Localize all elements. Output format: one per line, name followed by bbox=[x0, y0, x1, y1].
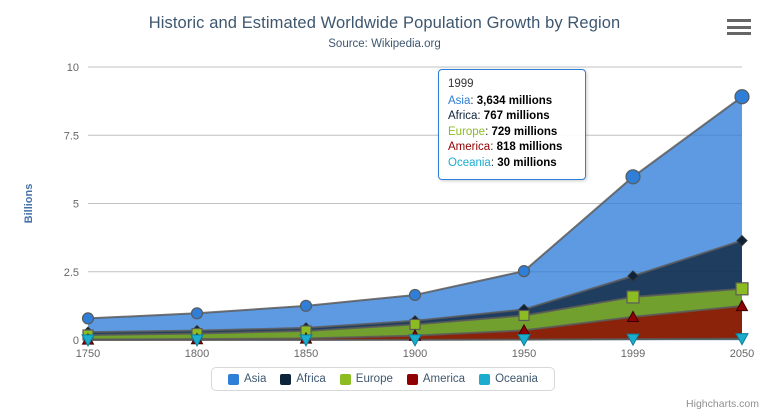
legend-swatch-icon bbox=[479, 374, 490, 385]
marker-asia[interactable] bbox=[519, 266, 530, 277]
x-tick-label: 2050 bbox=[730, 348, 754, 360]
legend-swatch-icon bbox=[340, 374, 351, 385]
tooltip-row-europe: Europe: 729 millions bbox=[448, 125, 576, 141]
marker-asia[interactable] bbox=[192, 308, 203, 319]
x-axis-tick-labels: 1750180018501900195019992050 bbox=[76, 348, 754, 360]
legend-item-label: Oceania bbox=[495, 373, 538, 385]
marker-europe[interactable] bbox=[410, 319, 420, 329]
legend-items: AsiaAfricaEuropeAmericaOceania bbox=[221, 373, 545, 385]
y-axis-title-text: Billions bbox=[23, 184, 35, 224]
highcharts-container: Historic and Estimated Worldwide Populat… bbox=[0, 0, 769, 416]
tooltip-series-value: 729 millions bbox=[491, 126, 557, 138]
y-tick-label: 7.5 bbox=[64, 130, 79, 142]
legend-swatch-icon bbox=[228, 374, 239, 385]
legend-item-africa[interactable]: Africa bbox=[280, 373, 325, 385]
y-axis-title: Billions bbox=[23, 184, 35, 224]
x-tick-label: 1900 bbox=[403, 348, 427, 360]
legend-item-america[interactable]: America bbox=[407, 373, 465, 385]
series-areas bbox=[88, 97, 742, 340]
legend-item-label: Asia bbox=[244, 373, 266, 385]
y-tick-label: 5 bbox=[73, 199, 79, 211]
tooltip-row-asia: Asia: 3,634 millions bbox=[448, 94, 576, 110]
y-tick-label: 10 bbox=[67, 62, 79, 74]
marker-asia[interactable] bbox=[626, 170, 640, 184]
tooltip-rows: Asia: 3,634 millionsAfrica: 767 millions… bbox=[448, 94, 576, 172]
marker-europe[interactable] bbox=[519, 310, 529, 320]
legend-item-label: Africa bbox=[296, 373, 325, 385]
legend-item-europe[interactable]: Europe bbox=[340, 373, 393, 385]
x-tick-label: 1800 bbox=[185, 348, 209, 360]
legend-swatch-icon bbox=[407, 374, 418, 385]
marker-asia[interactable] bbox=[301, 300, 312, 311]
tooltip-row-oceania: Oceania: 30 millions bbox=[448, 156, 576, 172]
tooltip-series-value: 767 millions bbox=[484, 110, 550, 122]
tooltip-series-name: Europe bbox=[448, 126, 485, 138]
x-tick-label: 1750 bbox=[76, 348, 100, 360]
y-tick-label: 2.5 bbox=[64, 267, 79, 279]
marker-europe[interactable] bbox=[736, 283, 748, 295]
x-tick-label: 1950 bbox=[512, 348, 536, 360]
tooltip-row-america: America: 818 millions bbox=[448, 140, 576, 156]
legend: AsiaAfricaEuropeAmericaOceania bbox=[211, 367, 555, 391]
tooltip-series-value: 3,634 millions bbox=[477, 95, 552, 107]
tooltip: 1999 Asia: 3,634 millionsAfrica: 767 mil… bbox=[438, 69, 586, 180]
x-tick-label: 1999 bbox=[621, 348, 645, 360]
legend-item-oceania[interactable]: Oceania bbox=[479, 373, 538, 385]
tooltip-series-value: 818 millions bbox=[497, 141, 563, 153]
tooltip-header: 1999 bbox=[448, 77, 576, 93]
marker-asia[interactable] bbox=[735, 90, 749, 104]
chart-plot-area: 02.557.510 1750180018501900195019992050 … bbox=[0, 0, 769, 416]
marker-asia[interactable] bbox=[410, 289, 421, 300]
marker-asia[interactable] bbox=[83, 313, 94, 324]
tooltip-series-name: Africa bbox=[448, 110, 477, 122]
legend-item-asia[interactable]: Asia bbox=[228, 373, 266, 385]
marker-europe[interactable] bbox=[627, 291, 639, 303]
legend-item-label: Europe bbox=[356, 373, 393, 385]
tooltip-series-name: Asia bbox=[448, 95, 470, 107]
y-tick-label: 0 bbox=[73, 335, 79, 347]
tooltip-series-name: America bbox=[448, 141, 490, 153]
credits-link[interactable]: Highcharts.com bbox=[686, 398, 759, 410]
x-tick-label: 1850 bbox=[294, 348, 318, 360]
tooltip-series-value: 30 millions bbox=[497, 157, 556, 169]
legend-item-label: America bbox=[423, 373, 465, 385]
tooltip-series-name: Oceania bbox=[448, 157, 491, 169]
tooltip-row-africa: Africa: 767 millions bbox=[448, 109, 576, 125]
legend-swatch-icon bbox=[280, 374, 291, 385]
y-axis-tick-labels: 02.557.510 bbox=[64, 62, 79, 347]
